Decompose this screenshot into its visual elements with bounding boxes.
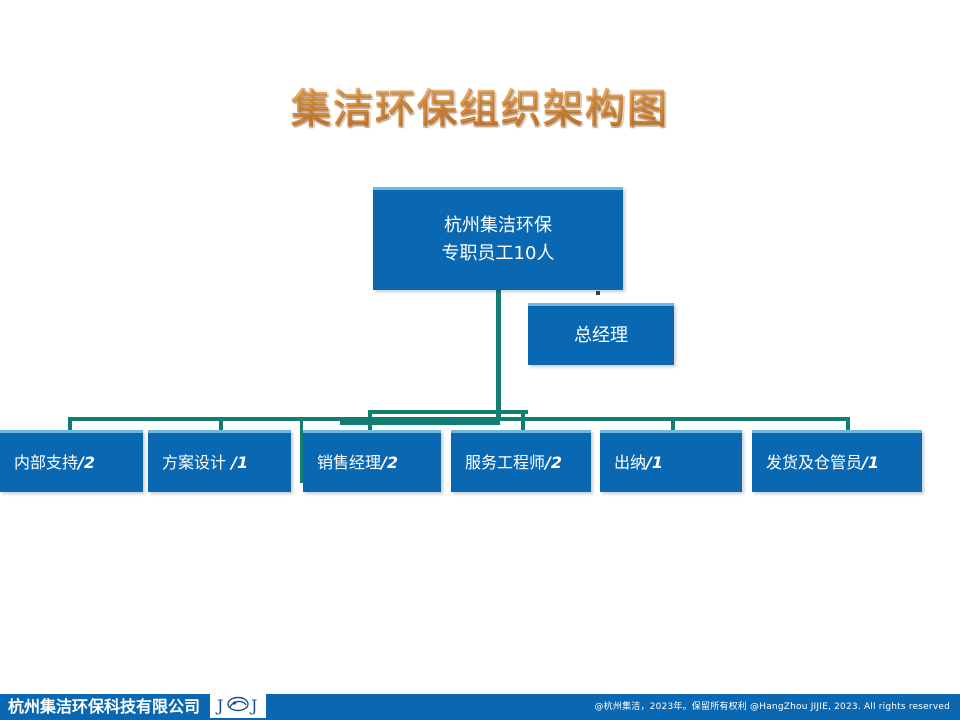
dept-name-3: 服务工程师 — [465, 453, 545, 472]
org-node-service-engineer[interactable]: 服务工程师/2 — [451, 430, 591, 492]
org-node-sales-manager-label: 销售经理/2 — [303, 450, 441, 476]
org-node-solution-design[interactable]: 方案设计 /1 — [148, 430, 291, 492]
org-node-general-manager-label: 总经理 — [528, 323, 674, 349]
page-title: 集洁环保组织架构图 — [0, 76, 960, 134]
connector-horizontal-bus-left-tail — [340, 421, 500, 425]
dept-name-2: 销售经理 — [317, 453, 381, 472]
org-node-general-manager[interactable]: 总经理 — [528, 303, 674, 365]
org-node-cashier[interactable]: 出纳/1 — [600, 430, 742, 492]
connector-horizontal-bus-secondary — [368, 410, 528, 414]
org-node-root[interactable]: 杭州集洁环保 专职员工10人 — [373, 187, 623, 290]
org-node-cashier-label: 出纳/1 — [600, 450, 742, 476]
dept-count-1: 1 — [237, 453, 248, 472]
org-node-shipping-warehouse-label: 发货及仓管员/1 — [752, 450, 922, 476]
footer-bar: 杭州集洁环保科技有限公司 @杭州集洁，2023年。保留所有权利 @HangZho… — [0, 694, 960, 720]
dept-count-4: 1 — [652, 453, 663, 472]
dept-count-3: 2 — [551, 453, 562, 472]
connector-leg-2 — [368, 410, 372, 432]
slide-canvas: 集洁环保组织架构图 集洁环保组织架构图 杭州集洁环保 专职员工10人 总经理 内… — [0, 0, 960, 720]
connector-leg-3 — [521, 410, 525, 432]
dept-name-4: 出纳 — [614, 453, 646, 472]
dept-name-5: 发货及仓管员 — [766, 453, 862, 472]
connector-root-vertical — [496, 290, 501, 418]
footer-copyright: @杭州集洁，2023年。保留所有权利 @HangZhou JIJIE, 2023… — [594, 698, 950, 716]
org-node-root-line2: 专职员工10人 — [442, 240, 555, 268]
footer-company-name: 杭州集洁环保科技有限公司 — [8, 696, 200, 718]
dept-count-5: 1 — [868, 453, 879, 472]
org-node-solution-design-label: 方案设计 /1 — [148, 450, 291, 476]
connector-manager-nub — [596, 291, 600, 295]
svg-text:J: J — [215, 696, 223, 715]
dept-count-0: 2 — [84, 453, 95, 472]
org-node-internal-support-label: 内部支持/2 — [0, 450, 143, 476]
org-node-shipping-warehouse[interactable]: 发货及仓管员/1 — [752, 430, 922, 492]
dept-count-2: 2 — [387, 453, 398, 472]
org-node-root-line1: 杭州集洁环保 — [442, 212, 555, 240]
dept-name-0: 内部支持 — [14, 453, 78, 472]
company-logo-icon: J J — [210, 692, 266, 718]
dept-name-1: 方案设计 — [162, 453, 231, 472]
org-node-sales-manager[interactable]: 销售经理/2 — [303, 430, 441, 492]
org-node-service-engineer-label: 服务工程师/2 — [451, 450, 591, 476]
svg-text:J: J — [249, 696, 257, 715]
org-node-internal-support[interactable]: 内部支持/2 — [0, 430, 143, 492]
